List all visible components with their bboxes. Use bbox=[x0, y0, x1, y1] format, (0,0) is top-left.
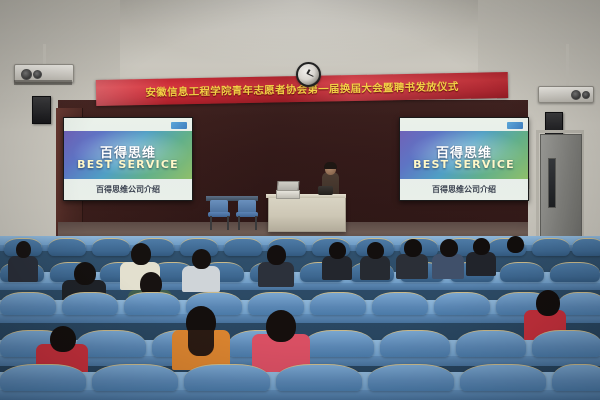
desk-row-mid-front bbox=[0, 314, 600, 323]
chair-mid-8[interactable] bbox=[434, 292, 490, 315]
left-slide-logo-en: BEST SERVICE bbox=[64, 158, 192, 171]
stage-chair-leg-2b bbox=[255, 216, 257, 230]
attendee-12-body bbox=[500, 250, 530, 274]
ceiling-projector-right bbox=[538, 86, 594, 103]
stage-chair-leg-2a bbox=[238, 216, 240, 230]
chair-far-6[interactable] bbox=[224, 238, 262, 256]
chair-mid-3[interactable] bbox=[124, 292, 180, 315]
wall-speaker-left bbox=[32, 96, 51, 124]
projector-rod-left bbox=[43, 44, 46, 66]
chair-near-5[interactable] bbox=[304, 330, 374, 357]
chair-far-14[interactable] bbox=[572, 238, 600, 256]
corp-logo-mark-left bbox=[171, 122, 187, 129]
chair-front-5[interactable] bbox=[368, 364, 454, 391]
chair-front-2[interactable] bbox=[92, 364, 178, 391]
chair-mid-6[interactable] bbox=[310, 292, 366, 315]
attendee-3-head bbox=[131, 243, 151, 265]
attendee-5-head bbox=[192, 249, 211, 269]
attendee-16-head bbox=[50, 326, 76, 352]
door-vision-panel bbox=[548, 158, 556, 208]
clock-hand-minute bbox=[307, 73, 314, 77]
podium-equipment bbox=[318, 186, 333, 195]
attendee-1-body bbox=[8, 256, 38, 282]
chair-front-7[interactable] bbox=[552, 364, 600, 391]
chair-mid-2[interactable] bbox=[62, 292, 118, 315]
chair-far-13[interactable] bbox=[532, 238, 570, 256]
attendee-8-head bbox=[367, 242, 384, 259]
attendee-12-head bbox=[507, 236, 524, 253]
projector-lens-left-secondary bbox=[33, 70, 42, 79]
projector-lens-right bbox=[571, 90, 581, 100]
left-screen-surface: 百得思维 BEST SERVICE 百得思维公司介绍 bbox=[64, 118, 192, 200]
attendee-9-head bbox=[404, 239, 422, 257]
attendee-11-body bbox=[466, 252, 496, 276]
attendee-10-body bbox=[432, 254, 464, 279]
attendee-8-body bbox=[360, 256, 390, 280]
chair-far-3[interactable] bbox=[92, 238, 130, 256]
left-slide-caption: 百得思维公司介绍 bbox=[64, 184, 192, 195]
side-door-right[interactable] bbox=[540, 134, 582, 248]
right-projection-screen: 百得思维 BEST SERVICE 百得思维公司介绍 bbox=[399, 117, 529, 201]
projector-rod-right bbox=[566, 44, 569, 88]
chair-near-8[interactable] bbox=[532, 330, 600, 357]
auditorium-photo: 安徽信息工程学院青年志愿者协会第一届换届大会暨聘书发放仪式 百得思维 BEST … bbox=[0, 0, 600, 400]
chair-front-4[interactable] bbox=[276, 364, 362, 391]
chair-mid-1[interactable] bbox=[0, 292, 56, 315]
attendee-14-head bbox=[266, 310, 296, 342]
chair-front-3[interactable] bbox=[184, 364, 270, 391]
laptop-base bbox=[276, 190, 300, 199]
attendee-6-head bbox=[267, 245, 286, 265]
projector-lens-left bbox=[21, 69, 32, 80]
chair-mid-7[interactable] bbox=[372, 292, 428, 315]
chair-front-6[interactable] bbox=[460, 364, 546, 391]
chair-front-1[interactable] bbox=[0, 364, 86, 391]
attendee-5-body bbox=[182, 266, 220, 292]
attendee-10-head bbox=[440, 239, 458, 257]
stage-chair-leg-1b bbox=[227, 216, 229, 230]
right-screen-surface: 百得思维 BEST SERVICE 百得思维公司介绍 bbox=[400, 118, 528, 200]
attendee-7-head bbox=[329, 242, 346, 259]
desk-row-front-front bbox=[0, 390, 600, 400]
right-slide-caption: 百得思维公司介绍 bbox=[400, 184, 528, 195]
attendee-15-head bbox=[536, 290, 560, 316]
corp-logo-mark-right bbox=[507, 122, 523, 129]
chair-near-7[interactable] bbox=[456, 330, 526, 357]
chair-midfar-12[interactable] bbox=[550, 262, 600, 282]
projector-shadow-left bbox=[14, 80, 72, 85]
attendee-7-body bbox=[322, 256, 352, 280]
attendee-9-body bbox=[396, 254, 428, 279]
attendee-13-hair-strand bbox=[188, 330, 214, 356]
ceiling-light-sheen bbox=[120, 0, 480, 70]
stage-chair-leg-1a bbox=[210, 216, 212, 230]
podium bbox=[268, 196, 346, 232]
attendee-1-head bbox=[16, 241, 31, 258]
attendee-6-body bbox=[258, 262, 294, 287]
right-slide-artwork: 百得思维 BEST SERVICE bbox=[400, 131, 528, 179]
projector-lens-right-secondary bbox=[582, 91, 590, 99]
chair-near-6[interactable] bbox=[380, 330, 450, 357]
attendee-11-head bbox=[473, 238, 490, 255]
attendee-2-head bbox=[74, 262, 96, 285]
chair-far-2[interactable] bbox=[48, 238, 86, 256]
wall-clock-icon bbox=[296, 62, 321, 87]
right-slide-logo-en: BEST SERVICE bbox=[400, 158, 528, 171]
presenter-hair bbox=[324, 162, 337, 169]
left-projection-screen: 百得思维 BEST SERVICE 百得思维公司介绍 bbox=[63, 117, 193, 201]
left-slide-artwork: 百得思维 BEST SERVICE bbox=[64, 131, 192, 179]
